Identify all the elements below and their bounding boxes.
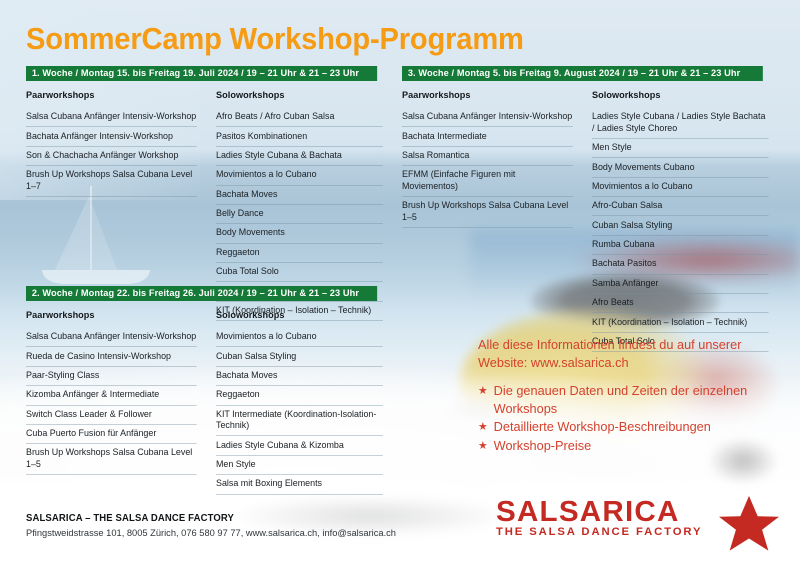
- list-item: EFMM (Einfache Figuren mit Moviementos): [402, 166, 573, 197]
- solo-workshops-heading-2: Soloworkshops: [216, 310, 381, 321]
- list-item: Movimientos a lo Cubano: [216, 166, 383, 185]
- list-item: Reggaeton: [216, 244, 383, 263]
- promo-bullet-item: ★ Die genauen Daten und Zeiten der einze…: [478, 382, 772, 417]
- logo-wordmark: SALSARICA THE SALSA DANCE FACTORY: [496, 497, 714, 539]
- star-icon: [718, 494, 780, 554]
- list-item: Movimientos a lo Cubano: [216, 328, 383, 347]
- list-item: Afro Beats / Afro Cuban Salsa: [216, 108, 383, 127]
- list-item: Rueda de Casino Intensiv-Workshop: [26, 347, 197, 366]
- page-title: SommerCamp Workshop-Programm: [26, 22, 524, 56]
- list-item: Salsa Cubana Anfänger Intensiv-Workshop: [26, 328, 197, 347]
- list-item: Cuban Salsa Styling: [216, 347, 383, 366]
- week-section-3: 3. Woche / Montag 5. bis Freitag 9. Augu…: [402, 66, 774, 352]
- list-item: Salsa Romantica: [402, 147, 573, 166]
- list-item: Cuba Puerto Fusion für Anfänger: [26, 425, 197, 444]
- list-item: Ladies Style Cubana & Bachata: [216, 147, 383, 166]
- company-address: Pfingstweidstrasse 101, 8005 Zürich, 076…: [26, 527, 453, 540]
- list-item: Bachata Moves: [216, 367, 383, 386]
- company-name: SALSARICA – THE SALSA DANCE FACTORY: [26, 512, 444, 525]
- list-item: Pasitos Kombinationen: [216, 127, 383, 146]
- solo-workshops-list-2: Movimientos a lo Cubano Cuban Salsa Styl…: [216, 328, 388, 495]
- paar-workshops-list-3: Salsa Cubana Anfänger Intensiv-Workshop …: [402, 108, 578, 228]
- list-item: Son & Chachacha Anfänger Workshop: [26, 147, 197, 166]
- star-icon: ★: [478, 382, 488, 400]
- solo-workshops-heading-1: Soloworkshops: [216, 90, 381, 101]
- paar-workshops-list-2: Salsa Cubana Anfänger Intensiv-Workshop …: [26, 328, 202, 475]
- promo-lead-text: Alle diese Informationen findest du auf …: [478, 336, 772, 371]
- promo-bullet-label: Detaillierte Workshop-Beschreibungen: [494, 419, 711, 434]
- list-item: Men Style: [592, 139, 769, 158]
- list-item: Afro-Cuban Salsa: [592, 197, 769, 216]
- star-icon: ★: [478, 418, 488, 436]
- list-item: Salsa mit Boxing Elements: [216, 475, 383, 494]
- promo-bullet-item: ★ Workshop-Preise: [478, 437, 772, 455]
- list-item: Cuba Total Solo: [216, 263, 383, 282]
- list-item: Kizomba Anfänger & Intermediate: [26, 386, 197, 405]
- solo-workshops-column-2: Soloworkshops Movimientos a lo Cubano Cu…: [216, 310, 388, 495]
- logo-main-text: SALSARICA: [496, 497, 718, 527]
- list-item: Body Movements: [216, 224, 383, 243]
- list-item: Brush Up Workshops Salsa Cubana Level 1–…: [26, 444, 197, 475]
- paar-workshops-heading-2: Paarworkshops: [26, 310, 195, 321]
- solo-workshops-list-3: Ladies Style Cubana / Ladies Style Bacha…: [592, 108, 774, 352]
- promo-block: Alle diese Informationen findest du auf …: [478, 336, 778, 455]
- list-item: Body Movements Cubano: [592, 158, 769, 177]
- list-item: Brush Up Workshops Salsa Cubana Level 1–…: [26, 166, 197, 197]
- paar-workshops-column-3: Paarworkshops Salsa Cubana Anfänger Inte…: [402, 90, 578, 352]
- list-item: Cuban Salsa Styling: [592, 216, 769, 235]
- promo-bullet-list: ★ Die genauen Daten und Zeiten der einze…: [478, 382, 778, 454]
- paar-workshops-column-2: Paarworkshops Salsa Cubana Anfänger Inte…: [26, 310, 202, 495]
- star-icon: ★: [478, 437, 488, 455]
- promo-bullet-item: ★ Detaillierte Workshop-Beschreibungen: [478, 418, 772, 436]
- list-item: Men Style: [216, 456, 383, 475]
- list-item: Belly Dance: [216, 205, 383, 224]
- list-item: Paar-Styling Class: [26, 367, 197, 386]
- week-header-bar-3: 3. Woche / Montag 5. bis Freitag 9. Augu…: [402, 66, 763, 81]
- poster: SommerCamp Workshop-Programm 1. Woche / …: [0, 0, 800, 564]
- week-section-1: 1. Woche / Montag 15. bis Freitag 19. Ju…: [26, 66, 388, 321]
- list-item: Bachata Anfänger Intensiv-Workshop: [26, 127, 197, 146]
- footer: SALSARICA – THE SALSA DANCE FACTORY Pfin…: [26, 512, 466, 540]
- paar-workshops-list-1: Salsa Cubana Anfänger Intensiv-Workshop …: [26, 108, 202, 197]
- list-item: Bachata Moves: [216, 186, 383, 205]
- list-item: Reggaeton: [216, 386, 383, 405]
- list-item: Afro Beats: [592, 294, 769, 313]
- promo-bullet-label: Die genauen Daten und Zeiten der einzeln…: [494, 383, 748, 416]
- solo-workshops-column-3: Soloworkshops Ladies Style Cubana / Ladi…: [592, 90, 774, 352]
- list-item: Salsa Cubana Anfänger Intensiv-Workshop: [26, 108, 197, 127]
- list-item: KIT Intermediate (Koordination-Isolation…: [216, 406, 383, 437]
- list-item: Brush Up Workshops Salsa Cubana Level 1–…: [402, 197, 573, 228]
- paar-workshops-heading-1: Paarworkshops: [26, 90, 195, 101]
- salsarica-logo: SALSARICA THE SALSA DANCE FACTORY: [488, 495, 788, 557]
- week-header-bar-2: 2. Woche / Montag 22. bis Freitag 26. Ju…: [26, 286, 377, 301]
- week-section-2: 2. Woche / Montag 22. bis Freitag 26. Ju…: [26, 286, 388, 495]
- list-item: Movimientos a lo Cubano: [592, 178, 769, 197]
- paar-workshops-heading-3: Paarworkshops: [402, 90, 571, 101]
- list-item: Salsa Cubana Anfänger Intensiv-Workshop: [402, 108, 573, 127]
- list-item: Bachata Intermediate: [402, 127, 573, 146]
- week-header-bar-1: 1. Woche / Montag 15. bis Freitag 19. Ju…: [26, 66, 377, 81]
- list-item: Samba Anfänger: [592, 275, 769, 294]
- logo-sub-text: THE SALSA DANCE FACTORY: [496, 526, 712, 539]
- list-item: Ladies Style Cubana / Ladies Style Bacha…: [592, 108, 769, 139]
- list-item: Switch Class Leader & Follower: [26, 406, 197, 425]
- list-item: Rumba Cubana: [592, 236, 769, 255]
- list-item: Ladies Style Cubana & Kizomba: [216, 436, 383, 455]
- list-item: Bachata Pasitos: [592, 255, 769, 274]
- list-item: KIT (Koordination – Isolation – Technik): [592, 313, 769, 332]
- promo-bullet-label: Workshop-Preise: [494, 438, 591, 453]
- solo-workshops-heading-3: Soloworkshops: [592, 90, 767, 101]
